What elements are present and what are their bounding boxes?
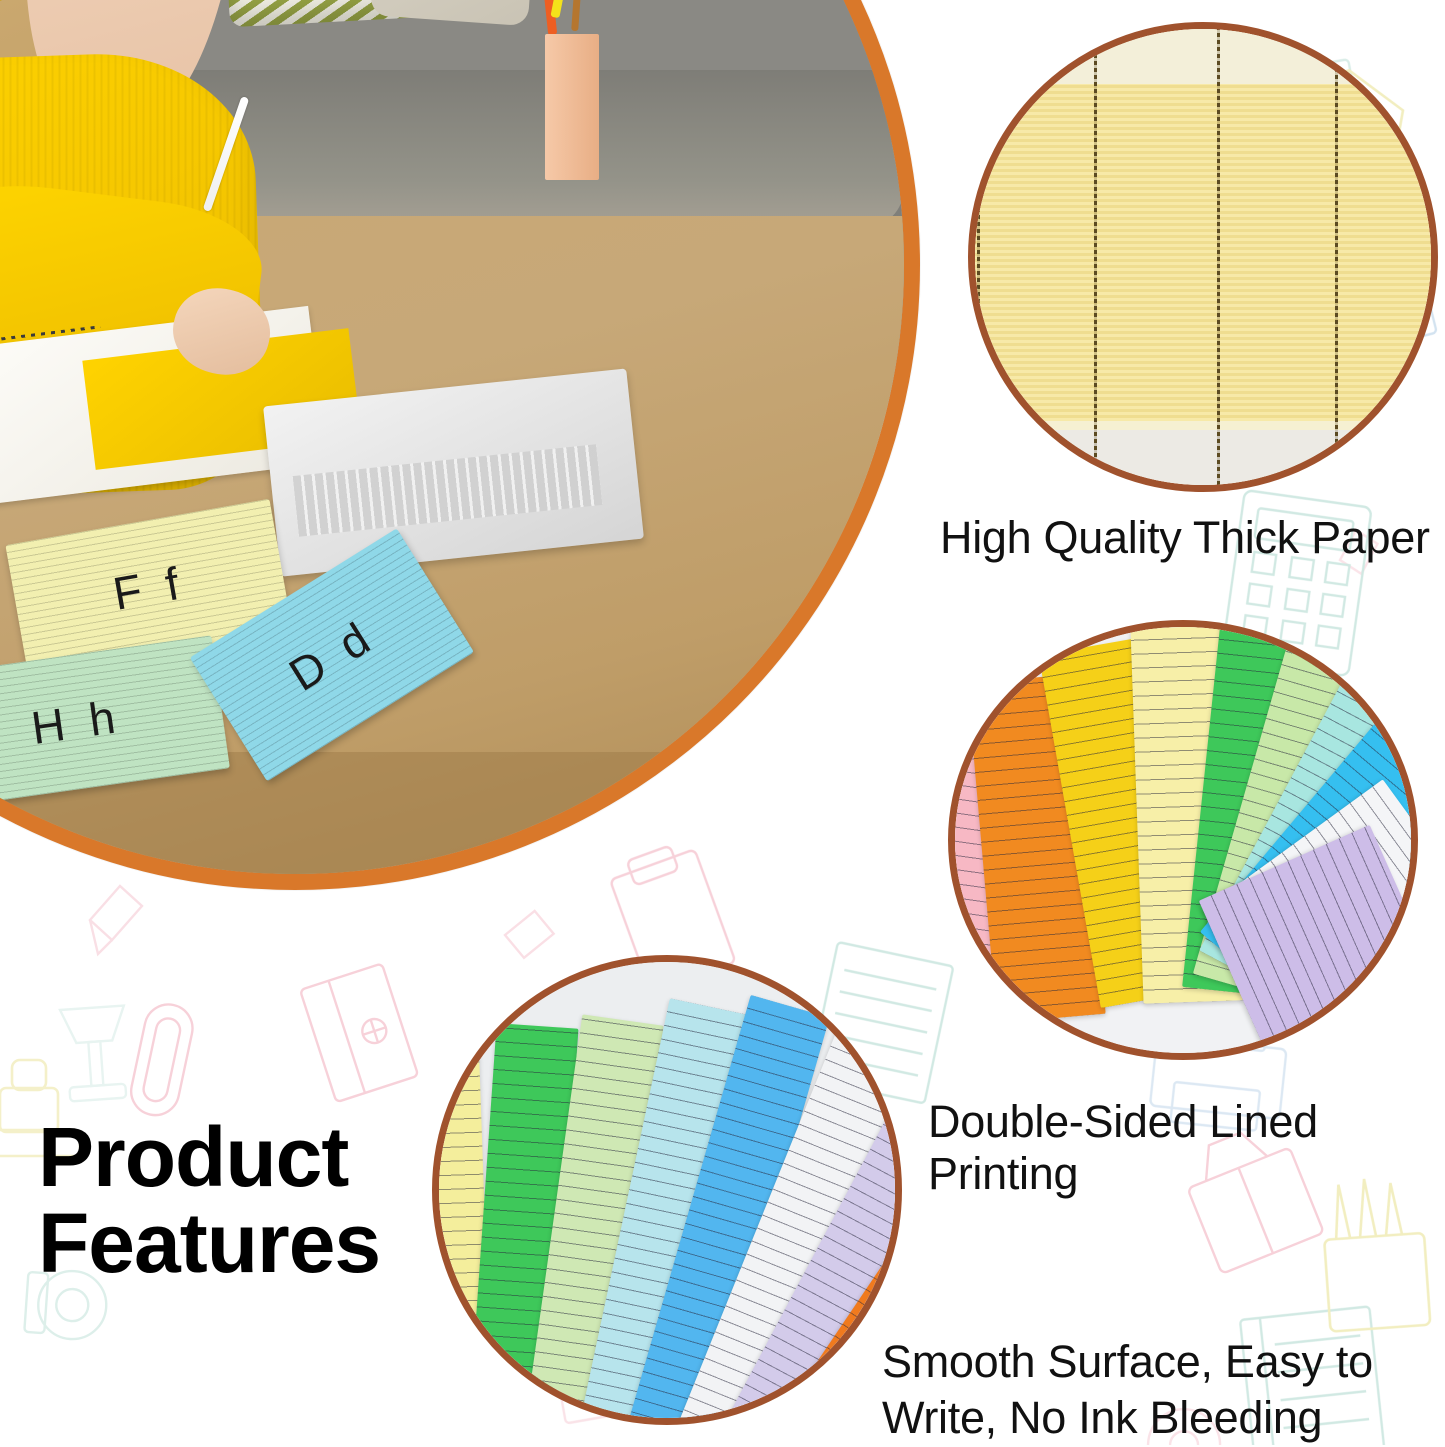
infographic-canvas: F f H h D d High Quality Thick Paper [0,0,1445,1445]
page-title-line-2: Features [38,1201,380,1287]
macro-score-line [977,29,980,485]
pen-doodle [90,886,142,954]
sharpener-doodle [300,963,418,1102]
marker-doodle [502,907,556,961]
double-sided-circle [948,620,1418,1060]
desk-lamp-doodle [60,1006,130,1102]
macro-paper [975,29,1431,485]
macro-paper-layers [975,84,1431,421]
page-title-line-1: Product [38,1115,380,1201]
macro-score-line [1335,29,1338,485]
smooth-surface-circle [432,955,902,1425]
card-spread [439,962,895,1418]
lifestyle-photo: F f H h D d [0,0,920,890]
caption-line-1: Smooth Surface, Easy to [882,1334,1373,1390]
caption-double-sided: Double-Sided Lined Printing [928,1096,1445,1200]
paperclip-doodle [127,1000,197,1120]
thick-paper-circle [968,22,1438,492]
macro-score-line [1217,29,1220,485]
page-title: Product Features [38,1115,380,1286]
caption-thick-paper: High Quality Thick Paper [940,512,1430,564]
macro-top-band [975,29,1431,84]
macro-bottom-band [975,430,1431,485]
card-fan [955,627,1411,1053]
caption-smooth-surface: Smooth Surface, Easy to Write, No Ink Bl… [882,1334,1373,1447]
pen-holder [545,34,600,180]
caption-line-2: Write, No Ink Bleeding [882,1390,1373,1446]
macro-score-line [1094,29,1097,485]
